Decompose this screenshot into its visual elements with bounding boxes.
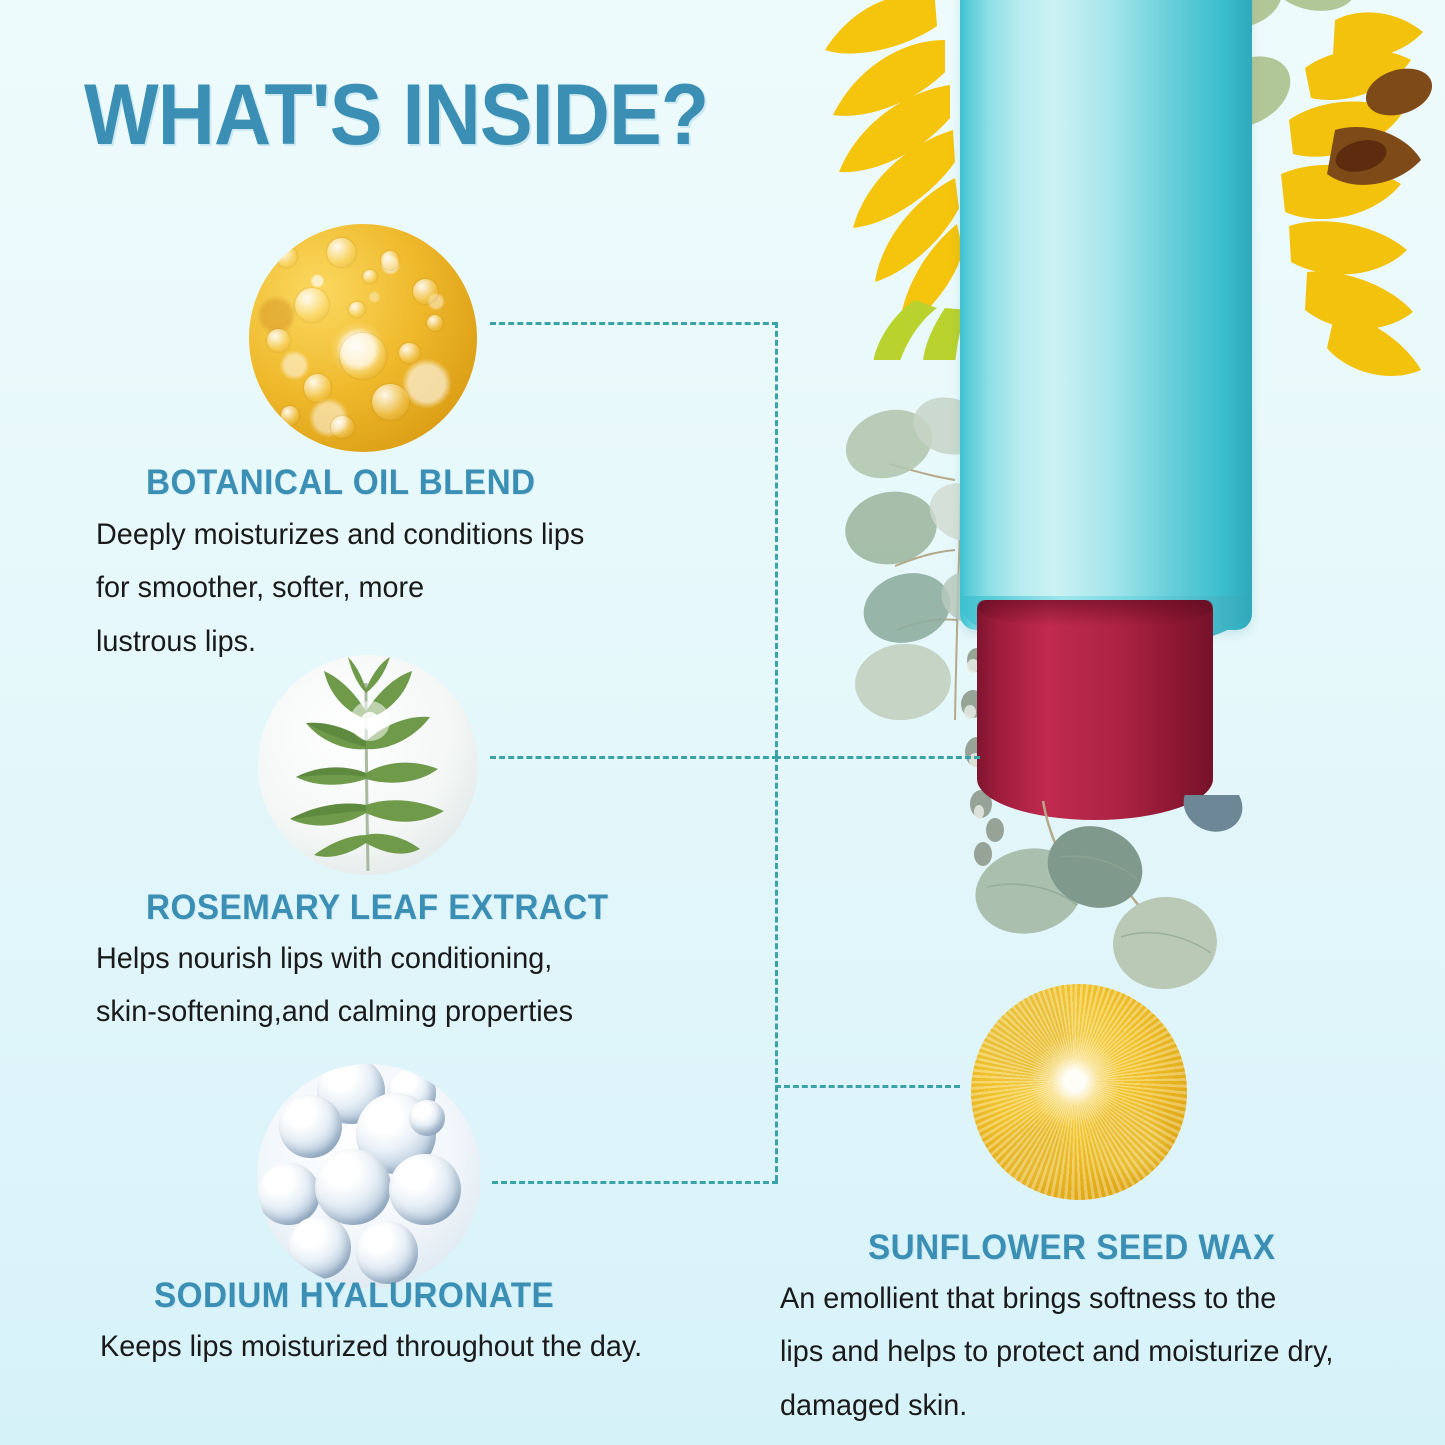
ingredient-body-line: An emollient that brings softness to the (780, 1272, 1333, 1325)
connector-oil-to-spine (490, 322, 778, 325)
ingredient-body-line: damaged skin. (780, 1379, 1333, 1432)
ingredient-body-line: lips and helps to protect and moisturize… (780, 1325, 1333, 1378)
ingredient-body-line: Deeply moisturizes and conditions lips (96, 508, 584, 561)
ingredient-body-sodium-hyaluronate: Keeps lips moisturized throughout the da… (100, 1320, 642, 1373)
lipstick-tube-body (960, 0, 1252, 630)
ingredient-image-sodium-hyaluronate (257, 1064, 481, 1288)
sunflower-top-left-icon (795, 0, 975, 360)
connector-spine-upper (775, 322, 778, 756)
lipstick-bullet (977, 600, 1213, 820)
ingredient-body-line: skin-softening,and calming properties (96, 985, 573, 1038)
connector-spine-lower (775, 756, 778, 1181)
ingredient-heading-sodium-hyaluronate: SODIUM HYALURONATE (154, 1276, 554, 1316)
ingredient-image-sunflower-seed-wax (971, 984, 1187, 1200)
connector-spine-to-product (775, 756, 980, 759)
ingredient-body-line: for smoother, softer, more (96, 561, 584, 614)
ingredient-image-rosemary-leaf-extract (258, 655, 478, 875)
connector-bubbles-to-spine (492, 1181, 778, 1184)
ingredient-body-sunflower-seed-wax: An emollient that brings softness to the… (780, 1272, 1333, 1432)
connector-rosemary-to-spine (490, 756, 778, 759)
ingredient-heading-botanical-oil-blend: BOTANICAL OIL BLEND (146, 463, 536, 503)
ingredient-body-line: Keeps lips moisturized throughout the da… (100, 1320, 642, 1373)
ingredient-body-rosemary-leaf-extract: Helps nourish lips with conditioning, sk… (96, 932, 573, 1039)
infographic-canvas: WHAT'S INSIDE? BOTANICAL OIL BLEND Deepl… (0, 0, 1445, 1445)
ingredient-body-line: Helps nourish lips with conditioning, (96, 932, 573, 985)
product-photo (925, 0, 1445, 1100)
connector-spine-to-wax (775, 1085, 960, 1088)
page-title: WHAT'S INSIDE? (84, 72, 708, 158)
ingredient-heading-rosemary-leaf-extract: ROSEMARY LEAF EXTRACT (146, 888, 609, 928)
ingredient-image-botanical-oil-blend (249, 224, 477, 452)
ingredient-heading-sunflower-seed-wax: SUNFLOWER SEED WAX (868, 1228, 1276, 1268)
ingredient-body-botanical-oil-blend: Deeply moisturizes and conditions lips f… (96, 508, 584, 668)
